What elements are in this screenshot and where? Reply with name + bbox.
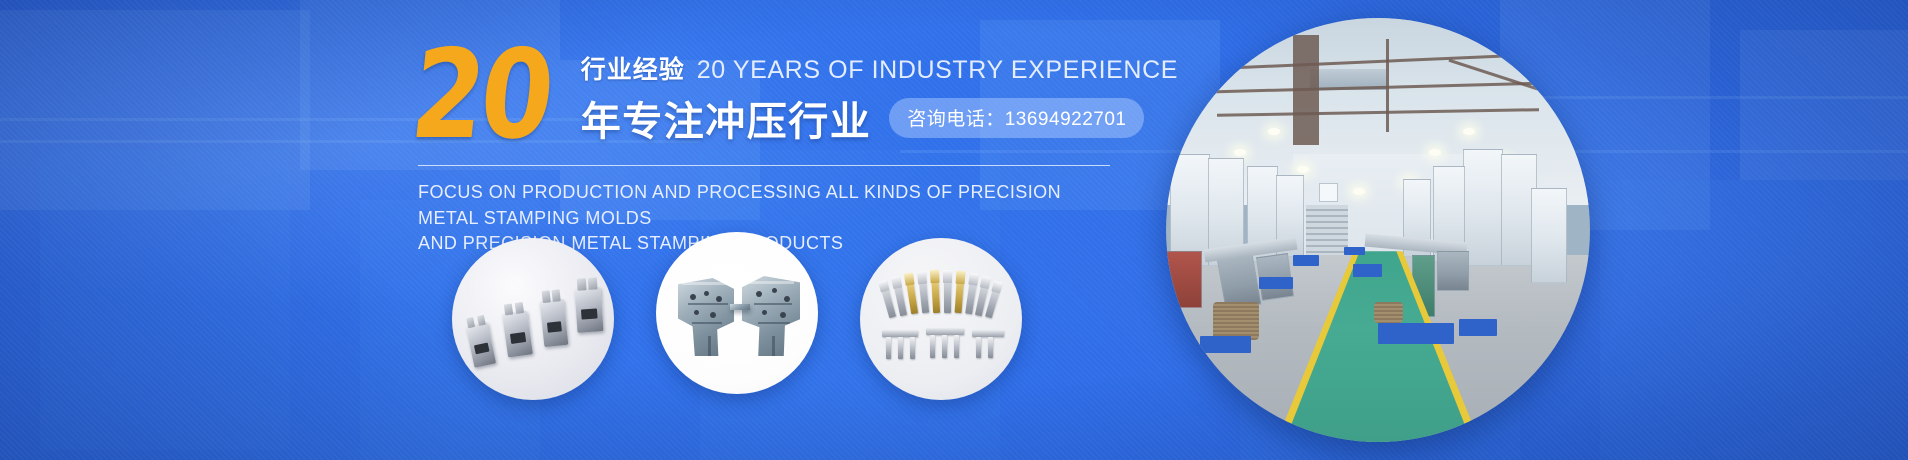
headline-en-small: 20 YEARS OF INDUSTRY EXPERIENCE [697,56,1178,85]
factory-workshop-photo [1166,18,1590,442]
headline-text-stack: 行业经验 20 YEARS OF INDUSTRY EXPERIENCE 年专注… [581,42,1178,147]
years-number: 20 [407,44,555,147]
headline-line-2: 年专注冲压行业 咨询电话：13694922701 [581,89,1178,147]
metal-terminal-pins-photo [860,238,1022,400]
progressive-stamping-die-photo [656,232,818,394]
headline-cn-big: 年专注冲压行业 [581,89,872,147]
headline-line-1: 行业经验 20 YEARS OF INDUSTRY EXPERIENCE [581,50,1178,86]
headline-block: 20 行业经验 20 YEARS OF INDUSTRY EXPERIENCE … [418,42,1138,257]
phone-badge[interactable]: 咨询电话：13694922701 [889,98,1144,138]
headline-cn-small: 行业经验 [581,50,685,86]
usb-connector-shells-photo [452,238,614,400]
subtitle-line-1: FOCUS ON PRODUCTION AND PROCESSING ALL K… [418,182,1061,228]
headline-row: 20 行业经验 20 YEARS OF INDUSTRY EXPERIENCE … [418,42,1138,147]
promo-banner: 20 行业经验 20 YEARS OF INDUSTRY EXPERIENCE … [0,0,1908,460]
